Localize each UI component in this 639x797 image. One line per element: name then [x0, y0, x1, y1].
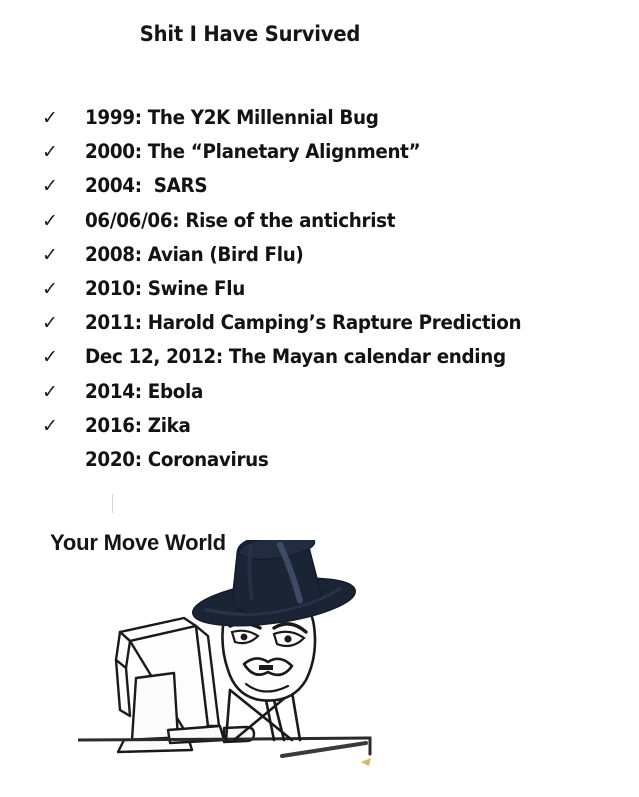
checkmark-icon: ✓ [42, 238, 64, 272]
list-item-label: 06/06/06: Rise of the antichrist [85, 204, 395, 238]
desk-line [78, 738, 368, 740]
checkmark-icon: ✓ [42, 409, 64, 443]
text-cursor-artifact [112, 494, 113, 513]
mouth [259, 665, 273, 670]
checkmark-icon: ✓ [42, 306, 64, 340]
list-item-label: 2000: The “Planetary Alignment” [85, 135, 420, 169]
list-item: ✓ 2016: Zika [36, 409, 616, 443]
desk-edge-right [282, 738, 370, 756]
poster-page: Shit I Have Survived ✓ 1999: The Y2K Mil… [0, 0, 639, 797]
list-item-label: 2004: SARS [85, 169, 207, 203]
list-item: ✓ 2011: Harold Camping’s Rapture Predict… [36, 306, 616, 340]
list-item-label: Dec 12, 2012: The Mayan calendar ending [85, 340, 506, 374]
top-hat [190, 540, 358, 634]
checkmark-icon: ✓ [42, 135, 64, 169]
list-item: ✓ 2014: Ebola [36, 375, 616, 409]
right-pupil [284, 635, 291, 642]
desk-corner-artifact [361, 758, 371, 766]
list-item-label: 2011: Harold Camping’s Rapture Predictio… [85, 306, 521, 340]
checkmark-icon: ✓ [42, 204, 64, 238]
page-title: Shit I Have Survived [18, 22, 483, 46]
list-item: ✓ 06/06/06: Rise of the antichrist [36, 204, 616, 238]
checkmark-icon: ✓ [42, 375, 64, 409]
checkmark-icon: ✓ [42, 272, 64, 306]
checkmark-icon: ✓ [42, 340, 64, 374]
list-item: ✓ Dec 12, 2012: The Mayan calendar endin… [36, 340, 616, 374]
left-pupil [241, 634, 248, 641]
feel-like-a-sir-illustration [78, 540, 418, 790]
meme-drawing [78, 540, 418, 790]
list-item-label: 2014: Ebola [85, 375, 203, 409]
list-item-label: 1999: The Y2K Millennial Bug [85, 101, 379, 135]
list-item: ✓ 2008: Avian (Bird Flu) [36, 238, 616, 272]
list-item: ✓ 2010: Swine Flu [36, 272, 616, 306]
list-item-label: 2008: Avian (Bird Flu) [85, 238, 303, 272]
checkmark-icon: ✓ [42, 169, 64, 203]
list-item: ✓ 2000: The “Planetary Alignment” [36, 135, 616, 169]
list-item-label: 2010: Swine Flu [85, 272, 245, 306]
list-item-label: 2020: Coronavirus [85, 443, 268, 477]
list-item: ✓ 1999: The Y2K Millennial Bug [36, 101, 616, 135]
list-item: 2020: Coronavirus [36, 443, 616, 477]
list-item: ✓ 2004: SARS [36, 169, 616, 203]
checkmark-icon: ✓ [42, 101, 64, 135]
list-item-label: 2016: Zika [85, 409, 191, 443]
survived-checklist: ✓ 1999: The Y2K Millennial Bug ✓ 2000: T… [36, 101, 616, 477]
